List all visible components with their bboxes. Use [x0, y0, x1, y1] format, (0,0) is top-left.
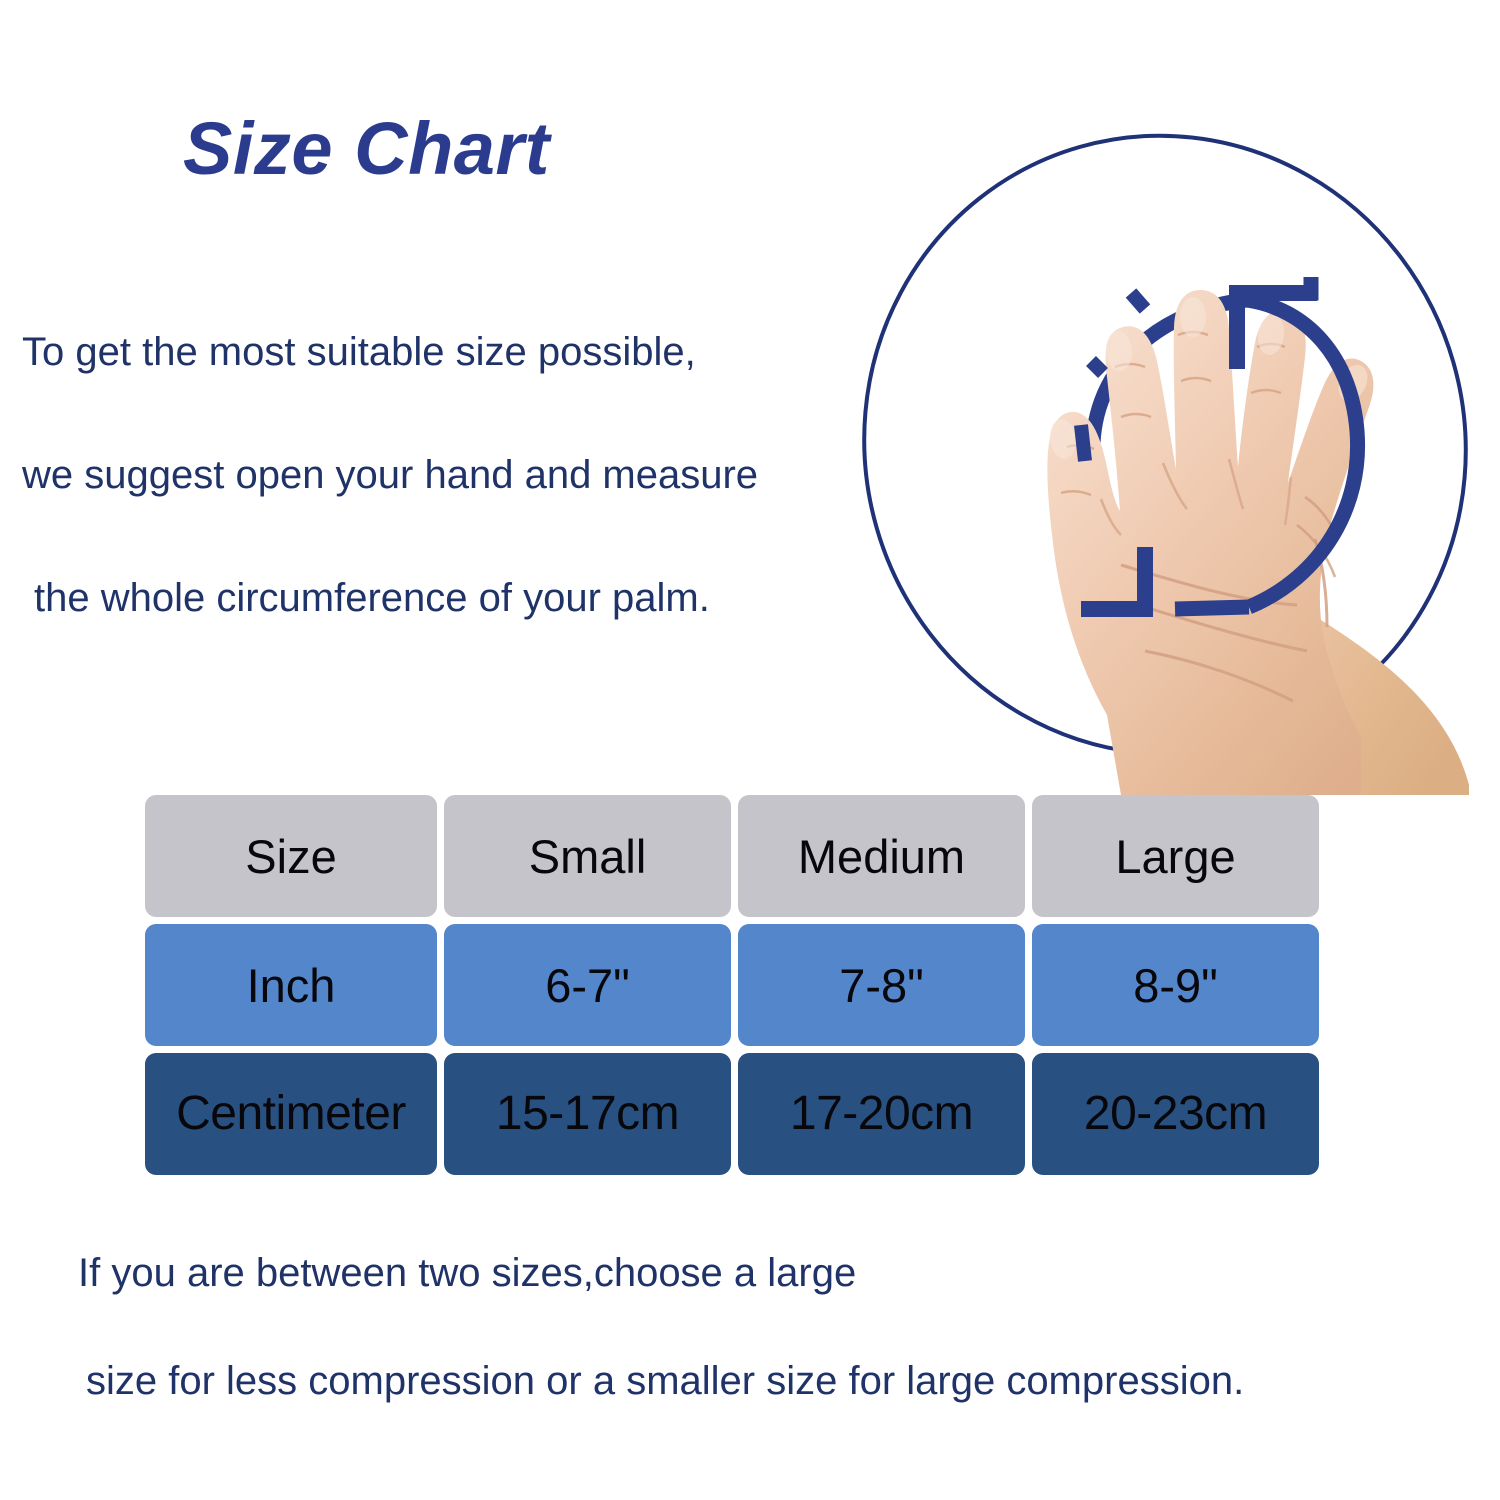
footer-line-2: size for less compression or a smaller s…: [86, 1361, 1478, 1401]
table-row: Centimeter 15-17cm 17-20cm 20-23cm: [145, 1053, 1325, 1175]
table-header-large: Large: [1032, 795, 1319, 917]
table-row: Size Small Medium Large: [145, 795, 1325, 917]
intro-paragraph: To get the most suitable size possible, …: [0, 332, 880, 618]
table-cell-cm-large: 20-23cm: [1032, 1053, 1319, 1175]
table-label-inch: Inch: [145, 924, 437, 1046]
intro-line-2: we suggest open your hand and measure: [22, 455, 880, 495]
table-header-small: Small: [444, 795, 731, 917]
table-cell-inch-medium: 7-8": [738, 924, 1025, 1046]
table-header-medium: Medium: [738, 795, 1025, 917]
hand-measurement-illustration: [845, 95, 1485, 795]
table-cell-cm-medium: 17-20cm: [738, 1053, 1025, 1175]
footer-line-1: If you are between two sizes,choose a la…: [78, 1253, 1478, 1293]
page-title: Size Chart: [183, 112, 550, 186]
table-row: Inch 6-7" 7-8" 8-9": [145, 924, 1325, 1046]
intro-line-3: the whole circumference of your palm.: [34, 578, 880, 618]
table-label-centimeter: Centimeter: [145, 1053, 437, 1175]
size-table: Size Small Medium Large Inch 6-7" 7-8" 8…: [145, 795, 1325, 1182]
table-cell-inch-small: 6-7": [444, 924, 731, 1046]
table-cell-cm-small: 15-17cm: [444, 1053, 731, 1175]
table-cell-inch-large: 8-9": [1032, 924, 1319, 1046]
footer-note: If you are between two sizes,choose a la…: [78, 1253, 1478, 1401]
open-palm-hand: [1047, 290, 1469, 795]
intro-line-1: To get the most suitable size possible,: [22, 332, 880, 372]
table-header-size: Size: [145, 795, 437, 917]
